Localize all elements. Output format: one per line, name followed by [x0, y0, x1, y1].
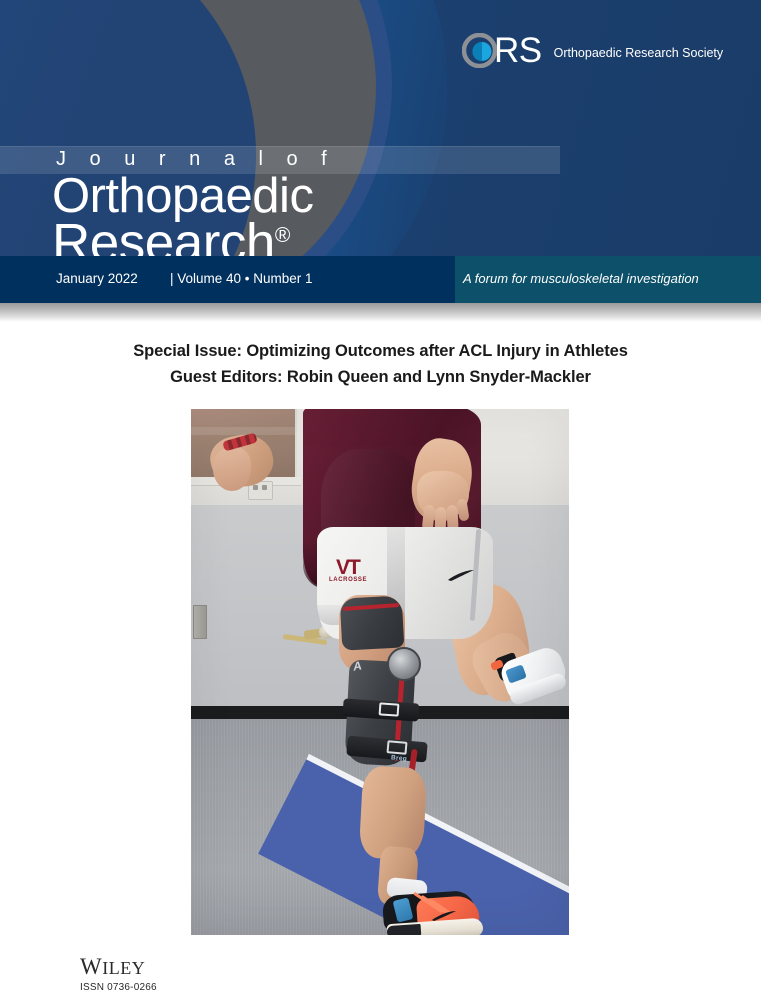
header-drop-shadow: [0, 303, 761, 322]
publisher-logo-initial: W: [80, 954, 102, 979]
issue-info-bar: January 2022 | Volume 40 • Number 1 A fo…: [0, 256, 761, 303]
publisher-logo: WILEY: [80, 955, 145, 980]
ors-logo-mark: RS: [462, 33, 542, 68]
journal-title-line-journal-of: J o u r n a l o f: [56, 148, 336, 171]
registered-trademark-mark: ®: [275, 224, 290, 247]
ors-society-name: Orthopaedic Research Society: [554, 42, 724, 60]
cover-photograph: VT LACROSSE A Breg: [191, 409, 569, 935]
ors-o-ring-icon: [462, 33, 497, 68]
journal-tagline: A forum for musculoskeletal investigatio…: [463, 271, 699, 286]
issn-number: ISSN 0736-0266: [80, 982, 157, 993]
publisher-logo-rest: ILEY: [102, 958, 145, 978]
photo-vignette: [191, 409, 569, 935]
special-issue-guest-editors: Guest Editors: Robin Queen and Lynn Snyd…: [0, 364, 761, 390]
special-issue-heading: Special Issue: Optimizing Outcomes after…: [0, 338, 761, 390]
issue-date: January 2022: [56, 271, 138, 286]
special-issue-title: Special Issue: Optimizing Outcomes after…: [0, 338, 761, 364]
issue-volume-number: | Volume 40 • Number 1: [170, 271, 313, 286]
ors-logo: RS Orthopaedic Research Society: [462, 33, 723, 68]
cover-header: RS Orthopaedic Research Society J o u r …: [0, 0, 761, 303]
ors-logo-text: RS: [494, 35, 542, 67]
